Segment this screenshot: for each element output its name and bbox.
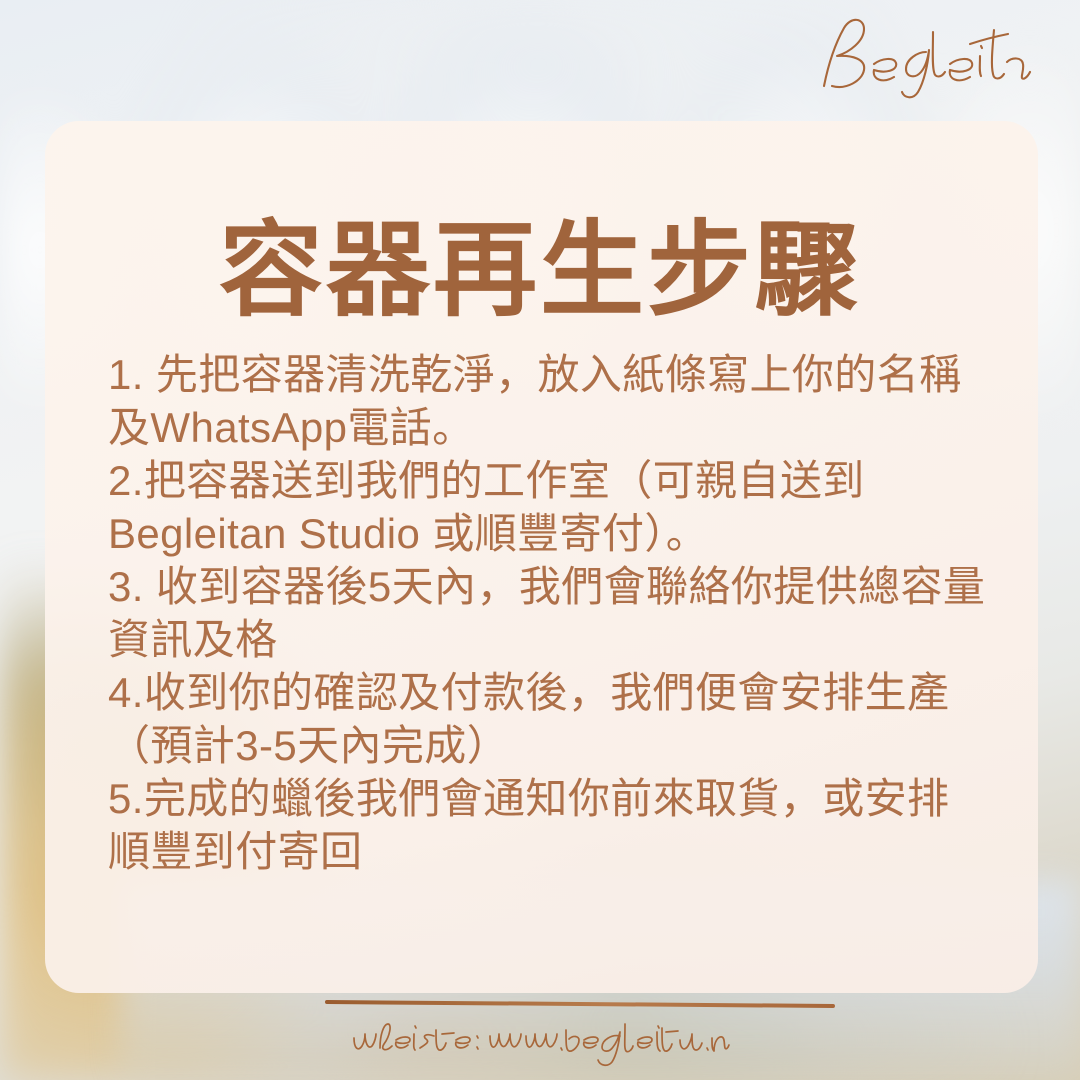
list-item: 2.把容器送到我們的工作室（可親自送到Begleitan Studio 或順豐寄…: [108, 454, 986, 560]
steps-list: 1. 先把容器清洗乾淨，放入紙條寫上你的名稱及WhatsApp電話。 2.把容器…: [108, 348, 986, 878]
brand-wordmark-icon: [802, 14, 1032, 100]
footer-website: [0, 1010, 1080, 1070]
list-item: 1. 先把容器清洗乾淨，放入紙條寫上你的名稱及WhatsApp電話。: [108, 348, 986, 454]
list-item: 5.完成的蠟後我們會通知你前來取貨，或安排順豐到付寄回: [108, 772, 986, 878]
page-title: 容器再生步驟: [0, 214, 1080, 330]
list-item: 4.收到你的確認及付款後，我們便會安排生產（預計3-5天內完成）: [108, 666, 986, 772]
poster-canvas: 容器再生步驟 1. 先把容器清洗乾淨，放入紙條寫上你的名稱及WhatsApp電話…: [0, 0, 1080, 1080]
website-script-icon: [350, 1012, 730, 1068]
brand-logo: [802, 14, 1032, 100]
list-item: 3. 收到容器後5天內，我們會聯絡你提供總容量資訊及格: [108, 560, 986, 666]
